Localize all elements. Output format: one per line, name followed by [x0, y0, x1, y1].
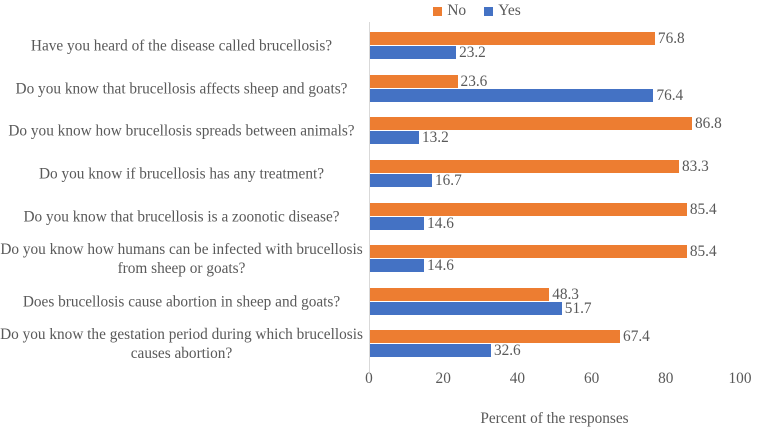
legend-item-yes[interactable]: Yes: [484, 3, 521, 19]
bar-group: Do you know the gestation period during …: [0, 323, 764, 366]
bar-no[interactable]: 86.8: [370, 117, 692, 130]
category-label: Do you know that brucellosis is a zoonot…: [0, 207, 363, 226]
chart-legend: NoYes: [0, 2, 764, 20]
x-tick-label: 20: [436, 370, 451, 388]
x-tick-label: 80: [658, 370, 673, 388]
bar-value-label: 16.7: [432, 174, 462, 187]
bar-no[interactable]: 85.4: [370, 203, 687, 216]
bar-value-label: 86.8: [692, 117, 722, 130]
x-axis-ticks: 020406080100: [0, 370, 764, 396]
bar-no[interactable]: 76.8: [370, 32, 655, 45]
bar-value-label: 85.4: [687, 245, 717, 258]
bar-value-label: 23.2: [456, 46, 486, 59]
bar-group: Do you know that brucellosis is a zoonot…: [0, 195, 764, 238]
bar-group: Do you know if brucellosis has any treat…: [0, 153, 764, 196]
bar-pair: 86.813.2: [370, 116, 764, 146]
x-axis-title: Percent of the responses: [369, 410, 740, 428]
bar-value-label: 13.2: [419, 131, 449, 144]
bar-pair: 85.414.6: [370, 202, 764, 232]
bar-pair: 23.676.4: [370, 74, 764, 104]
category-label: Do you know how humans can be infected w…: [0, 240, 363, 278]
bar-pair: 67.432.6: [370, 329, 764, 359]
bar-group: Do you know how brucellosis spreads betw…: [0, 110, 764, 153]
bar-value-label: 14.6: [424, 217, 454, 230]
legend-label: No: [447, 3, 466, 19]
bar-value-label: 23.6: [458, 75, 488, 88]
bar-group: Does brucellosis cause abortion in sheep…: [0, 281, 764, 324]
bar-pair: 85.414.6: [370, 244, 764, 274]
x-tick-label: 100: [729, 370, 752, 388]
bar-group: Have you heard of the disease called bru…: [0, 25, 764, 68]
legend-square-icon: [433, 7, 442, 16]
category-label: Have you heard of the disease called bru…: [0, 37, 363, 56]
legend-square-icon: [484, 7, 493, 16]
bar-no[interactable]: 85.4: [370, 245, 687, 258]
bar-pair: 83.316.7: [370, 159, 764, 189]
bar-yes[interactable]: 14.6: [370, 217, 424, 230]
bar-value-label: 76.8: [655, 32, 685, 45]
bar-yes[interactable]: 76.4: [370, 89, 653, 102]
bar-group: Do you know how humans can be infected w…: [0, 238, 764, 281]
bar-no[interactable]: 83.3: [370, 160, 679, 173]
bar-value-label: 83.3: [679, 160, 709, 173]
bar-value-label: 51.7: [562, 302, 592, 315]
bar-yes[interactable]: 13.2: [370, 131, 419, 144]
bar-yes[interactable]: 14.6: [370, 259, 424, 272]
bar-value-label: 14.6: [424, 259, 454, 272]
x-tick-label: 60: [584, 370, 599, 388]
bar-value-label: 67.4: [620, 330, 650, 343]
bar-group: Do you know that brucellosis affects she…: [0, 68, 764, 111]
bar-yes[interactable]: 51.7: [370, 302, 562, 315]
bar-value-label: 76.4: [653, 89, 683, 102]
bar-yes[interactable]: 16.7: [370, 174, 432, 187]
bar-value-label: 32.6: [491, 344, 521, 357]
bar-value-label: 85.4: [687, 203, 717, 216]
category-label: Do you know that brucellosis affects she…: [0, 79, 363, 98]
category-label: Do you know how brucellosis spreads betw…: [0, 122, 363, 141]
x-tick-label: 0: [365, 370, 373, 388]
x-tick-label: 40: [510, 370, 525, 388]
bar-yes[interactable]: 23.2: [370, 46, 456, 59]
bar-no[interactable]: 48.3: [370, 288, 549, 301]
legend-label: Yes: [498, 3, 521, 19]
legend-item-no[interactable]: No: [433, 3, 466, 19]
category-label: Do you know the gestation period during …: [0, 325, 363, 363]
chart-plot-area: Have you heard of the disease called bru…: [0, 22, 764, 372]
category-label: Do you know if brucellosis has any treat…: [0, 165, 363, 184]
bar-yes[interactable]: 32.6: [370, 344, 491, 357]
category-label: Does brucellosis cause abortion in sheep…: [0, 292, 363, 311]
bar-pair: 76.823.2: [370, 31, 764, 61]
bar-pair: 48.351.7: [370, 287, 764, 317]
bar-no[interactable]: 23.6: [370, 75, 458, 88]
